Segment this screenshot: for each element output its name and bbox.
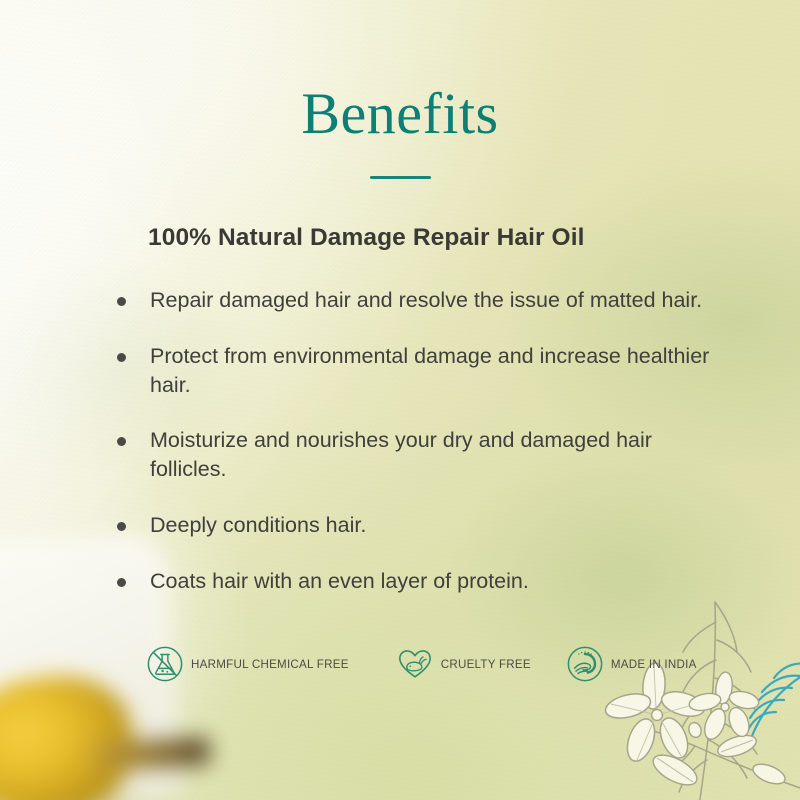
list-item: Deeply conditions hair.	[113, 511, 710, 540]
page-title: Benefits	[0, 84, 800, 145]
badge-label: CRUELTY FREE	[441, 658, 531, 671]
bullet-dot-icon	[117, 522, 126, 531]
benefits-list: Repair damaged hair and resolve the issu…	[113, 286, 713, 623]
no-chemical-flask-icon	[146, 645, 184, 683]
badge-made-in-india: MADE IN INDIA	[566, 645, 697, 683]
trust-badges: HARMFUL CHEMICAL FREE CRUELTY FREE	[146, 645, 697, 683]
list-item: Coats hair with an even layer of protein…	[113, 567, 710, 596]
bullet-dot-icon	[117, 353, 126, 362]
badge-label: HARMFUL CHEMICAL FREE	[191, 658, 349, 671]
benefit-text: Repair damaged hair and resolve the issu…	[150, 288, 702, 312]
list-item: Protect from environmental damage and in…	[113, 342, 710, 400]
badge-cruelty-free: CRUELTY FREE	[396, 645, 531, 683]
benefit-text: Moisturize and nourishes your dry and da…	[150, 428, 652, 481]
badge-label: MADE IN INDIA	[611, 658, 697, 671]
made-in-india-stamp-icon	[566, 645, 604, 683]
benefit-text: Protect from environmental damage and in…	[150, 344, 709, 397]
benefit-text: Coats hair with an even layer of protein…	[150, 569, 529, 593]
benefits-poster: Benefits 100% Natural Damage Repair Hair…	[0, 0, 800, 800]
bullet-dot-icon	[117, 297, 126, 306]
benefit-text: Deeply conditions hair.	[150, 513, 366, 537]
bullet-dot-icon	[117, 437, 126, 446]
bullet-dot-icon	[117, 578, 126, 587]
product-subtitle: 100% Natural Damage Repair Hair Oil	[148, 224, 585, 252]
rabbit-heart-icon	[396, 645, 434, 683]
list-item: Moisturize and nourishes your dry and da…	[113, 426, 710, 484]
badge-harmful-chemical-free: HARMFUL CHEMICAL FREE	[146, 645, 349, 683]
list-item: Repair damaged hair and resolve the issu…	[113, 286, 710, 315]
title-divider	[370, 176, 431, 179]
